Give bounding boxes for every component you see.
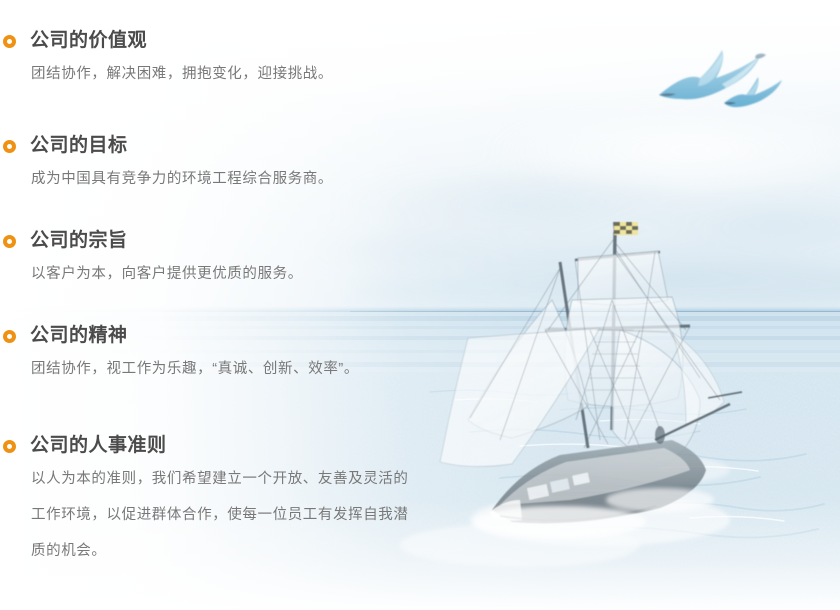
block-title-0: 公司的价值观 xyxy=(30,28,147,54)
body-line: 质的机会。 xyxy=(0,533,409,569)
value-block-3: 公司的精神 团结协作，视工作为乐趣，“真诚、创新、效率”。 xyxy=(0,323,359,387)
block-body-0: 团结协作，解决困难，拥抱变化，迎接挑战。 xyxy=(0,56,333,92)
block-body-3: 团结协作，视工作为乐趣，“真诚、创新、效率”。 xyxy=(0,351,359,387)
block-head-1: 公司的目标 xyxy=(0,133,333,161)
body-line: 工作环境，以促进群体合作，使每一位员工有发挥自我潜 xyxy=(0,497,409,533)
ring-bullet-icon xyxy=(3,35,16,48)
block-title-4: 公司的人事准则 xyxy=(30,433,167,459)
company-values-page: 公司的价值观 团结协作，解决困难，拥抱变化，迎接挑战。 公司的目标 成为中国具有… xyxy=(0,0,840,610)
value-block-2: 公司的宗旨 以客户为本，向客户提供更优质的服务。 xyxy=(0,228,303,292)
value-block-0: 公司的价值观 团结协作，解决困难，拥抱变化，迎接挑战。 xyxy=(0,28,333,92)
ring-bullet-icon xyxy=(3,235,16,248)
body-line: 以人为本的准则，我们希望建立一个开放、友善及灵活的 xyxy=(0,461,409,497)
block-head-0: 公司的价值观 xyxy=(0,28,333,56)
block-body-2: 以客户为本，向客户提供更优质的服务。 xyxy=(0,256,303,292)
value-block-4: 公司的人事准则 以人为本的准则，我们希望建立一个开放、友善及灵活的 工作环境，以… xyxy=(0,433,409,569)
block-head-4: 公司的人事准则 xyxy=(0,433,409,461)
body-line: 团结协作，视工作为乐趣，“真诚、创新、效率”。 xyxy=(0,351,359,387)
value-block-1: 公司的目标 成为中国具有竞争力的环境工程综合服务商。 xyxy=(0,133,333,197)
body-line: 成为中国具有竞争力的环境工程综合服务商。 xyxy=(0,161,333,197)
body-line: 以客户为本，向客户提供更优质的服务。 xyxy=(0,256,303,292)
block-title-2: 公司的宗旨 xyxy=(30,228,128,254)
block-head-3: 公司的精神 xyxy=(0,323,359,351)
body-line: 团结协作，解决困难，拥抱变化，迎接挑战。 xyxy=(0,56,333,92)
block-head-2: 公司的宗旨 xyxy=(0,228,303,256)
block-title-3: 公司的精神 xyxy=(30,323,128,349)
values-content: 公司的价值观 团结协作，解决困难，拥抱变化，迎接挑战。 公司的目标 成为中国具有… xyxy=(0,0,840,610)
ring-bullet-icon xyxy=(3,140,16,153)
block-body-4: 以人为本的准则，我们希望建立一个开放、友善及灵活的 工作环境，以促进群体合作，使… xyxy=(0,461,409,569)
ring-bullet-icon xyxy=(3,440,16,453)
block-title-1: 公司的目标 xyxy=(30,133,128,159)
ring-bullet-icon xyxy=(3,330,16,343)
block-body-1: 成为中国具有竞争力的环境工程综合服务商。 xyxy=(0,161,333,197)
